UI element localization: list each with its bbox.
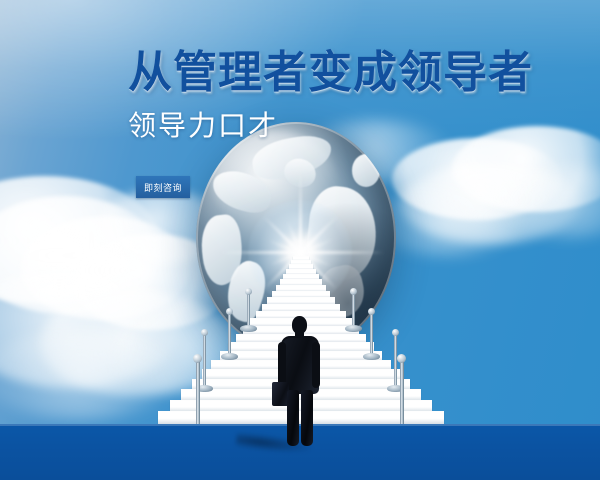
stanchion-post [203,334,206,388]
stanchion-base [221,353,238,360]
stanchion-knob [226,308,233,315]
figure-leg-right [301,390,313,446]
stanchion-post [247,292,250,328]
page-title: 从管理者变成领导者 [128,36,533,100]
stanchion-base [363,353,380,360]
stanchion-post [370,312,373,356]
stanchion-base [345,325,362,332]
page-subtitle: 领导力口才 [128,104,278,144]
stanchion-knob [193,354,202,363]
promo-banner: 从管理者变成领导者 领导力口才 即刻咨询 [0,0,600,480]
stanchion-knob [392,329,399,336]
stanchion-post [352,292,355,328]
stanchion-knob [350,288,357,295]
stanchion-base [240,325,257,332]
figure-leg-left [287,390,299,446]
businessman-silhouette [271,316,329,448]
consult-now-button[interactable]: 即刻咨询 [136,176,190,198]
figure-arm-right [312,342,320,388]
stanchion-post [228,312,231,356]
stanchion-knob [201,329,208,336]
stanchion-knob [397,354,406,363]
stanchion-knob [245,288,252,295]
stanchion-knob [368,308,375,315]
stanchion-post [394,334,397,388]
